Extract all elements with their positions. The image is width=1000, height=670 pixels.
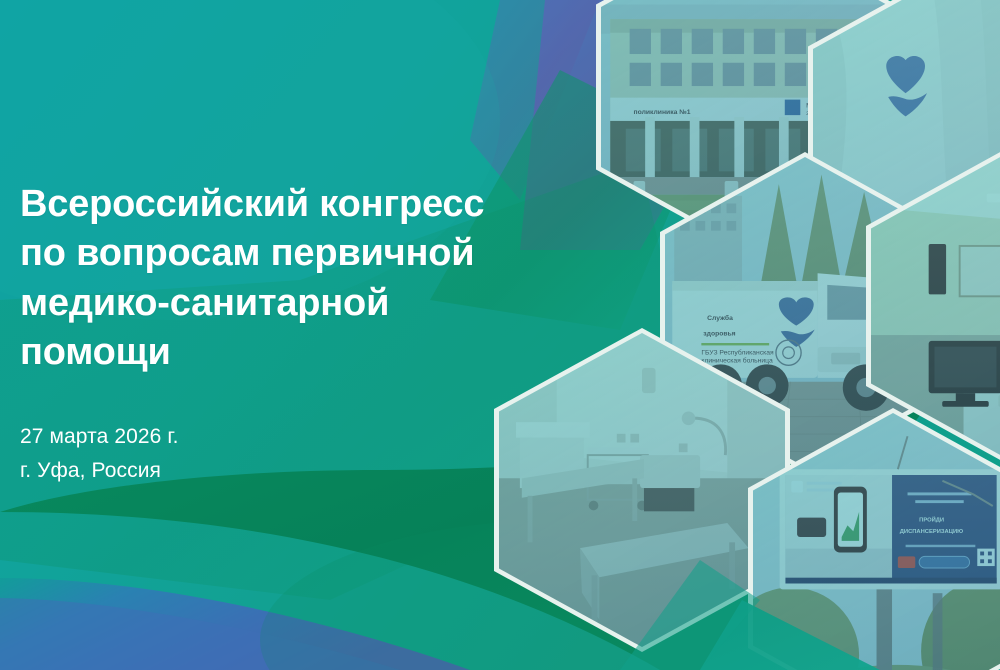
headline-line-4: помощи: [20, 328, 560, 377]
event-date: 27 марта 2026 г.: [20, 420, 560, 454]
headline-line-1: Всероссийский конгресс: [20, 180, 560, 229]
headline-line-3: медико-санитарной: [20, 279, 560, 328]
event-location: г. Уфа, Россия: [20, 454, 560, 488]
event-meta: 27 марта 2026 г. г. Уфа, Россия: [20, 420, 560, 488]
congress-banner: Всероссийский конгресс по вопросам перви…: [0, 0, 1000, 670]
banner-text-block: Всероссийский конгресс по вопросам перви…: [20, 180, 560, 488]
headline-line-2: по вопросам первичной: [20, 229, 560, 278]
page-title: Всероссийский конгресс по вопросам перви…: [20, 180, 560, 378]
